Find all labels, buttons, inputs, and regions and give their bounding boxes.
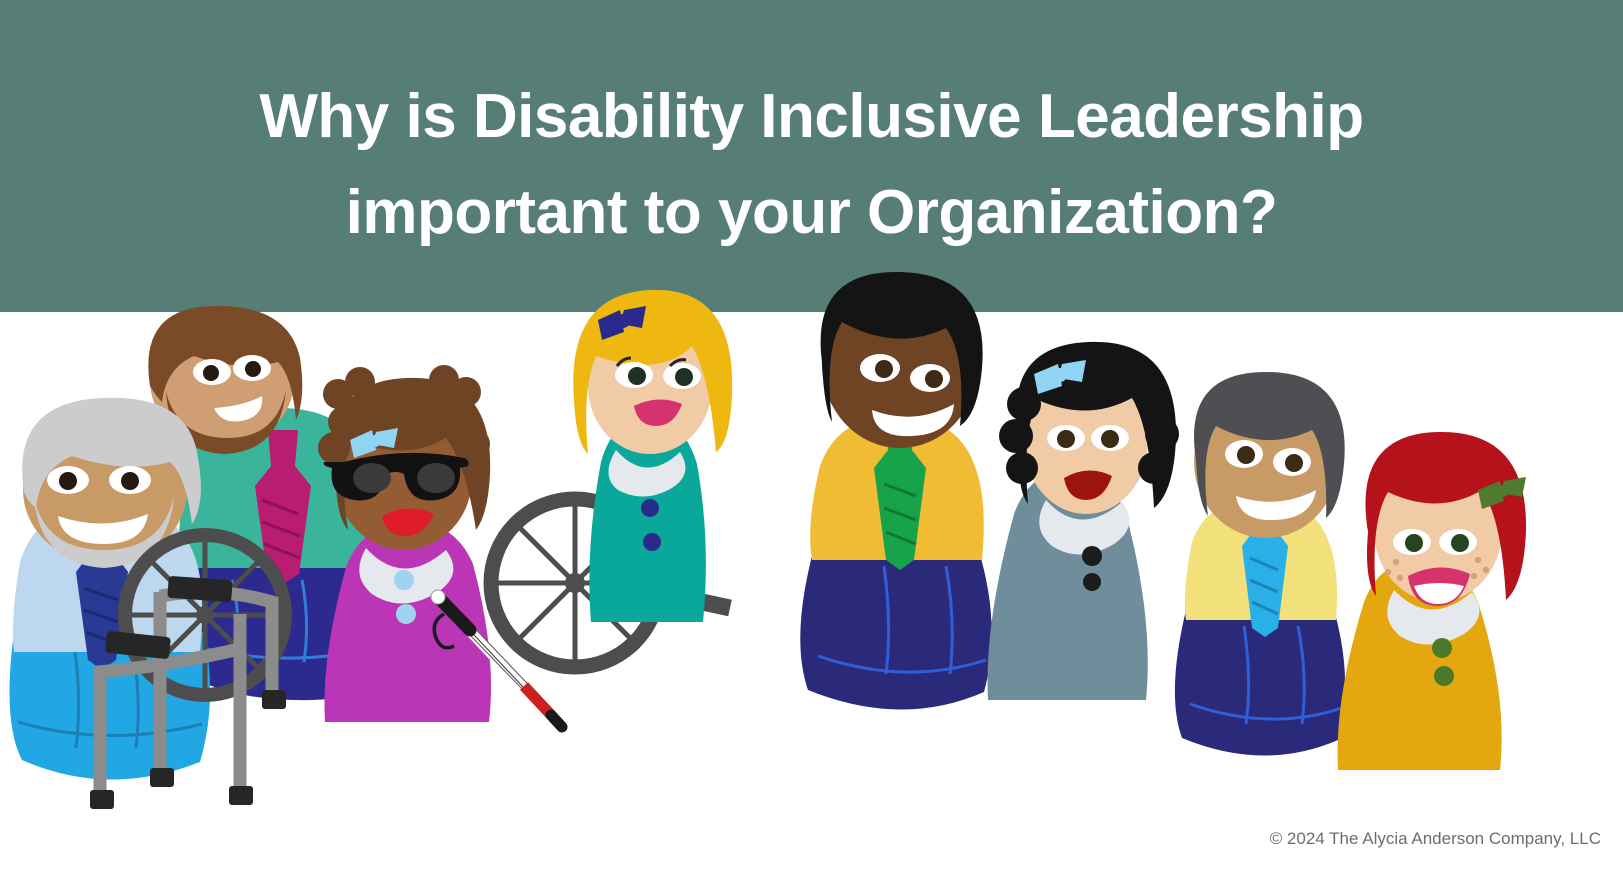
person-yellow-shirt [800, 272, 991, 710]
slide-canvas: Why is Disability Inclusive Leadership i… [0, 0, 1623, 869]
title-block: Why is Disability Inclusive Leadership i… [0, 0, 1623, 312]
copyright-notice: © 2024 The Alycia Anderson Company, LLC [1270, 829, 1601, 849]
title-line-2: important to your Organization? [346, 165, 1278, 261]
title-line-1: Why is Disability Inclusive Leadership [259, 69, 1363, 165]
person-black-curly-hair [988, 342, 1179, 700]
person-grey-hair-man [1175, 372, 1345, 756]
person-blonde-wheelchair [573, 290, 732, 622]
person-redhead [1338, 432, 1527, 770]
